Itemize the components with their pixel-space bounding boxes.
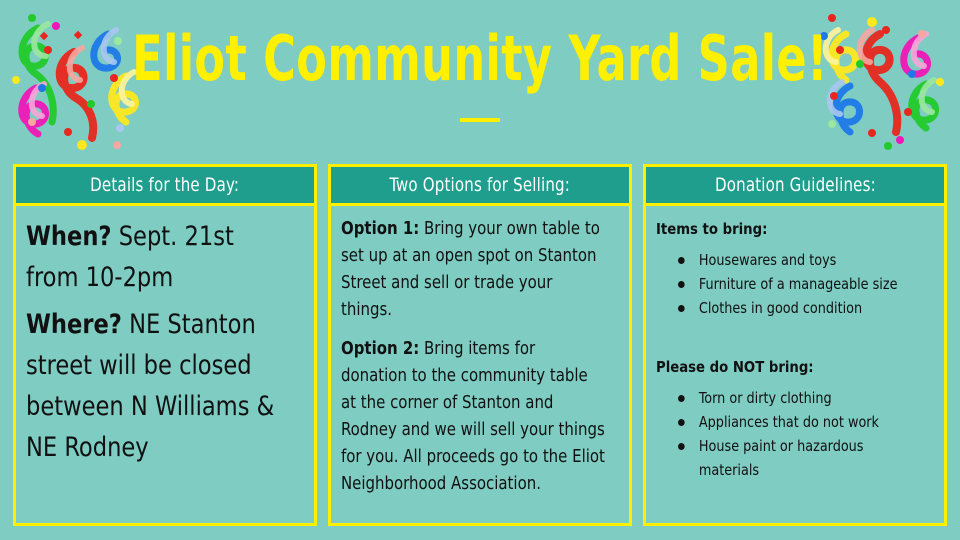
list-item-label: Appliances that do not work [699, 413, 879, 431]
bullet-icon [678, 305, 685, 312]
detail-when-lead: When? [26, 221, 112, 252]
poster-canvas: Eliot Community Yard Sale! Details for t… [0, 0, 960, 540]
card-selling-options: Two Options for Selling: Option 1: Bring… [328, 164, 632, 526]
list-item: Clothes in good condition [678, 296, 921, 320]
list-item-label: Torn or dirty clothing [699, 389, 832, 407]
option-1-lead: Option 1: [341, 219, 419, 239]
card-header-donation-guidelines-label: Donation Guidelines: [715, 174, 876, 196]
card-details: Details for the Day: When? Sept. 21st fr… [13, 164, 317, 526]
list-item-label: House paint or hazardous materials [699, 437, 864, 479]
guidelines-bring-list: Housewares and toys Furniture of a manag… [656, 248, 934, 320]
list-item: Torn or dirty clothing [678, 386, 921, 410]
list-item: Appliances that do not work [678, 410, 921, 434]
list-item: House paint or hazardous materials [678, 434, 921, 482]
guidelines-not-bring-heading: Please do NOT bring: [656, 358, 920, 376]
cards-row: Details for the Day: When? Sept. 21st fr… [13, 164, 947, 526]
card-header-details: Details for the Day: [13, 164, 317, 206]
option-2: Option 2: Bring items for donation to th… [341, 336, 605, 498]
card-body-donation-guidelines: Items to bring: Housewares and toys Furn… [643, 206, 947, 526]
option-2-lead: Option 2: [341, 339, 419, 359]
guidelines-bring-heading: Items to bring: [656, 220, 920, 238]
option-2-body: Bring items for donation to the communit… [341, 339, 605, 494]
list-item-label: Housewares and toys [699, 251, 836, 269]
bullet-icon [678, 395, 685, 402]
list-item: Housewares and toys [678, 248, 921, 272]
guidelines-not-bring-list: Torn or dirty clothing Appliances that d… [656, 386, 934, 482]
list-item-label: Furniture of a manageable size [699, 275, 898, 293]
card-header-donation-guidelines: Donation Guidelines: [643, 164, 947, 206]
detail-where-lead: Where? [26, 309, 122, 340]
card-header-selling-options-label: Two Options for Selling: [390, 174, 571, 196]
bullet-icon [678, 419, 685, 426]
detail-where: Where? NE Stanton street will be closed … [26, 304, 285, 468]
list-item: Furniture of a manageable size [678, 272, 921, 296]
card-body-selling-options: Option 1: Bring your own table to set up… [328, 206, 632, 526]
list-item-label: Clothes in good condition [699, 299, 862, 317]
title-block: Eliot Community Yard Sale! [0, 22, 960, 122]
card-body-details: When? Sept. 21st from 10-2pm Where? NE S… [13, 206, 317, 526]
page-title: Eliot Community Yard Sale! [96, 22, 864, 96]
card-header-selling-options: Two Options for Selling: [328, 164, 632, 206]
bullet-icon [678, 443, 685, 450]
detail-when: When? Sept. 21st from 10-2pm [26, 216, 285, 298]
title-divider [460, 118, 500, 122]
option-1: Option 1: Bring your own table to set up… [341, 216, 605, 324]
bullet-icon [678, 257, 685, 264]
card-donation-guidelines: Donation Guidelines: Items to bring: Hou… [643, 164, 947, 526]
card-header-details-label: Details for the Day: [91, 174, 240, 196]
bullet-icon [678, 281, 685, 288]
